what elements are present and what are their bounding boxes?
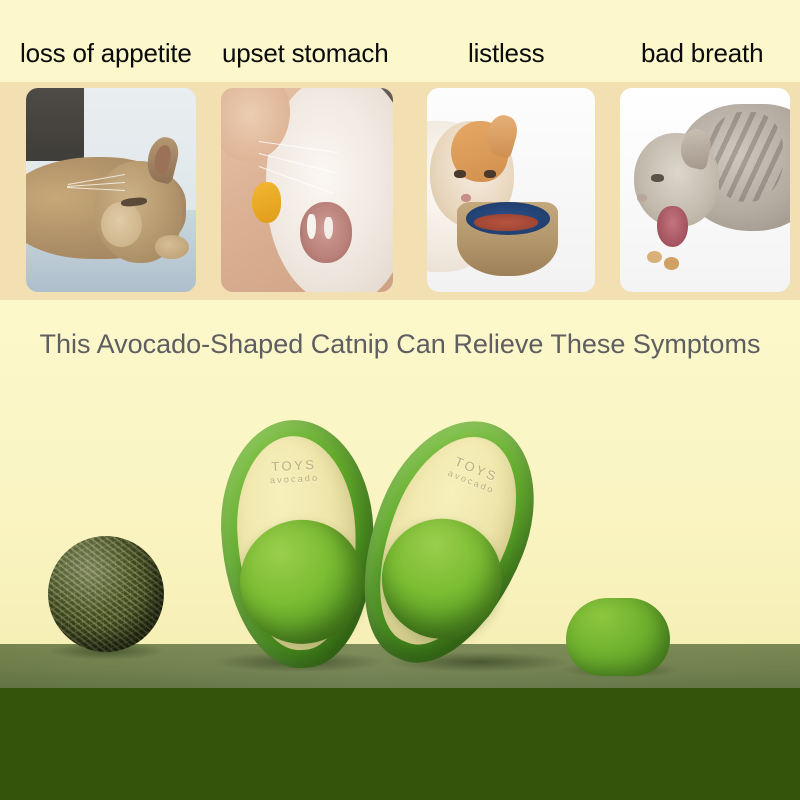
photo-gray-tabby-open-mouth-with-kibble [620, 88, 790, 292]
photo-sleepy-tabby-cat-lying-down [26, 88, 196, 292]
photo-cat-eating-from-food-bowl [427, 88, 595, 292]
symptom-label-loss-of-appetite: loss of appetite [20, 36, 192, 70]
headline-text: This Avocado-Shaped Catnip Can Relieve T… [0, 326, 800, 362]
rear-green-ball [566, 598, 670, 676]
product-infographic: loss of appetite upset stomach listless … [0, 0, 800, 800]
symptom-label-row: loss of appetite upset stomach listless … [0, 36, 800, 80]
product-scene: TOYS avocado TOYS avocado [0, 380, 800, 700]
catnip-ball [48, 536, 164, 652]
symptom-label-bad-breath: bad breath [641, 36, 763, 70]
symptom-photo-strip [0, 88, 800, 292]
photo-hand-holding-cat-mouth-open [221, 88, 393, 292]
symptom-label-listless: listless [468, 36, 544, 70]
foreground-band-dark-green [0, 688, 800, 800]
symptom-label-upset-stomach: upset stomach [222, 36, 389, 70]
